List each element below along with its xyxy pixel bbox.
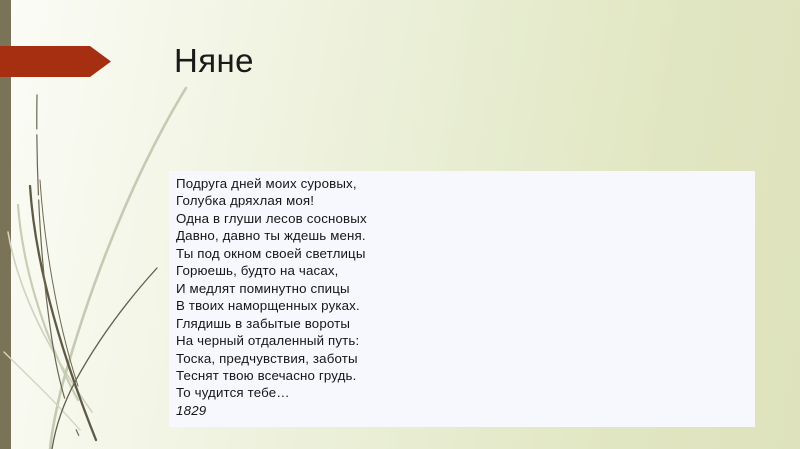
poem-line: То чудится тебе… (176, 384, 749, 401)
poem-year: 1829 (176, 402, 749, 419)
poem-panel: Подруга дней моих суровых, Голубка дряхл… (169, 171, 755, 427)
poem-line: Ты под окном своей светлицы (176, 245, 749, 262)
poem-line: Подруга дней моих суровых, (176, 175, 749, 192)
title-arrow-banner (0, 46, 111, 77)
poem-line: В твоих наморщенных руках. (176, 297, 749, 314)
poem-line: Голубка дряхлая моя! (176, 192, 749, 209)
slide: Няне Подруга дней моих суровых, Голубка … (0, 0, 800, 449)
poem-line: Давно, давно ты ждешь меня. (176, 227, 749, 244)
poem-line: Тоска, предчувствия, заботы (176, 350, 749, 367)
poem-line: Глядишь в забытые вороты (176, 315, 749, 332)
poem-line: Одна в глуши лесов сосновых (176, 210, 749, 227)
poem-line: Теснят твою всечасно грудь. (176, 367, 749, 384)
poem-line: На черный отдаленный путь: (176, 332, 749, 349)
page-title: Няне (174, 42, 254, 80)
poem-text-block: Подруга дней моих суровых, Голубка дряхл… (176, 175, 749, 419)
poem-line: И медлят поминутно спицы (176, 280, 749, 297)
poem-line: Горюешь, будто на часах, (176, 262, 749, 279)
